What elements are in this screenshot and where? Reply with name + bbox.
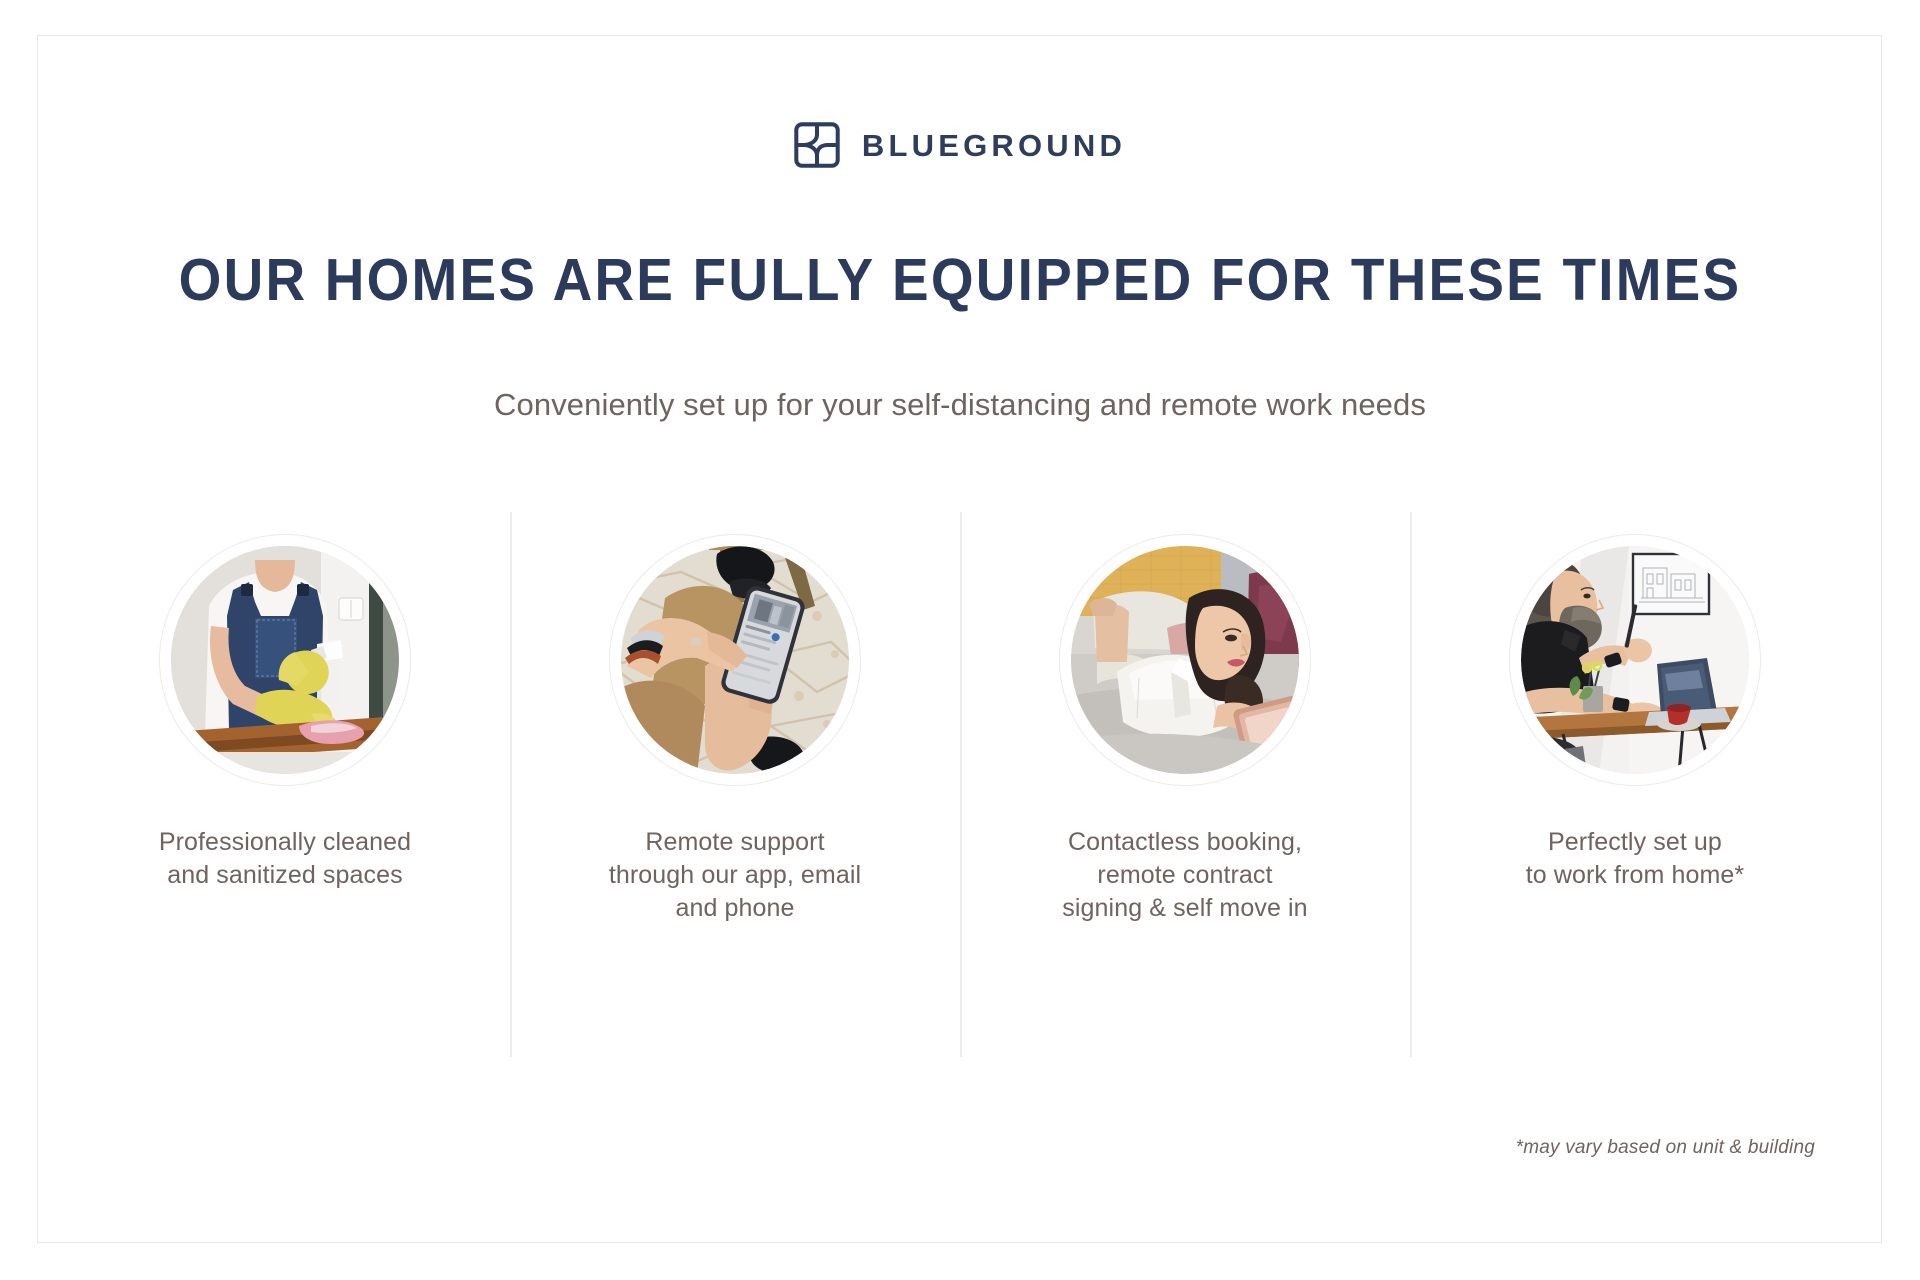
brand-name: BLUEGROUND [862, 130, 1126, 161]
feature-caption: Contactless booking, remote contract sig… [1062, 826, 1307, 925]
poster: BLUEGROUND OUR HOMES ARE FULLY EQUIPPED … [0, 0, 1920, 1280]
photo-ring [609, 534, 861, 786]
hands-using-phone-app-photo [621, 546, 849, 774]
blueground-square-mark-icon [794, 122, 840, 168]
feature-column-work-from-home: Perfectly set up to work from home* [1410, 512, 1860, 1057]
feature-column-remote-support: Remote support through our app, email an… [510, 512, 960, 1057]
feature-caption: Perfectly set up to work from home* [1526, 826, 1745, 892]
feature-caption: Remote support through our app, email an… [609, 826, 861, 925]
feature-caption: Professionally cleaned and sanitized spa… [159, 826, 411, 892]
feature-column-cleaning: Professionally cleaned and sanitized spa… [60, 512, 510, 1057]
photo-ring [1059, 534, 1311, 786]
photo-ring [159, 534, 411, 786]
man-at-desk-with-laptop-photo [1521, 546, 1749, 774]
photo-ring [1509, 534, 1761, 786]
feature-column-contactless-booking: Contactless booking, remote contract sig… [960, 512, 1410, 1057]
footnote-disclaimer: *may vary based on unit & building [1516, 1137, 1815, 1159]
woman-on-bed-with-tablet-photo [1071, 546, 1299, 774]
page-subtitle: Conveniently set up for your self-distan… [0, 386, 1920, 423]
brand-lockup: BLUEGROUND [0, 122, 1920, 168]
cleaner-wiping-counter-photo [171, 546, 399, 774]
page-title: OUR HOMES ARE FULLY EQUIPPED FOR THESE T… [67, 248, 1853, 313]
feature-columns: Professionally cleaned and sanitized spa… [60, 512, 1860, 1057]
